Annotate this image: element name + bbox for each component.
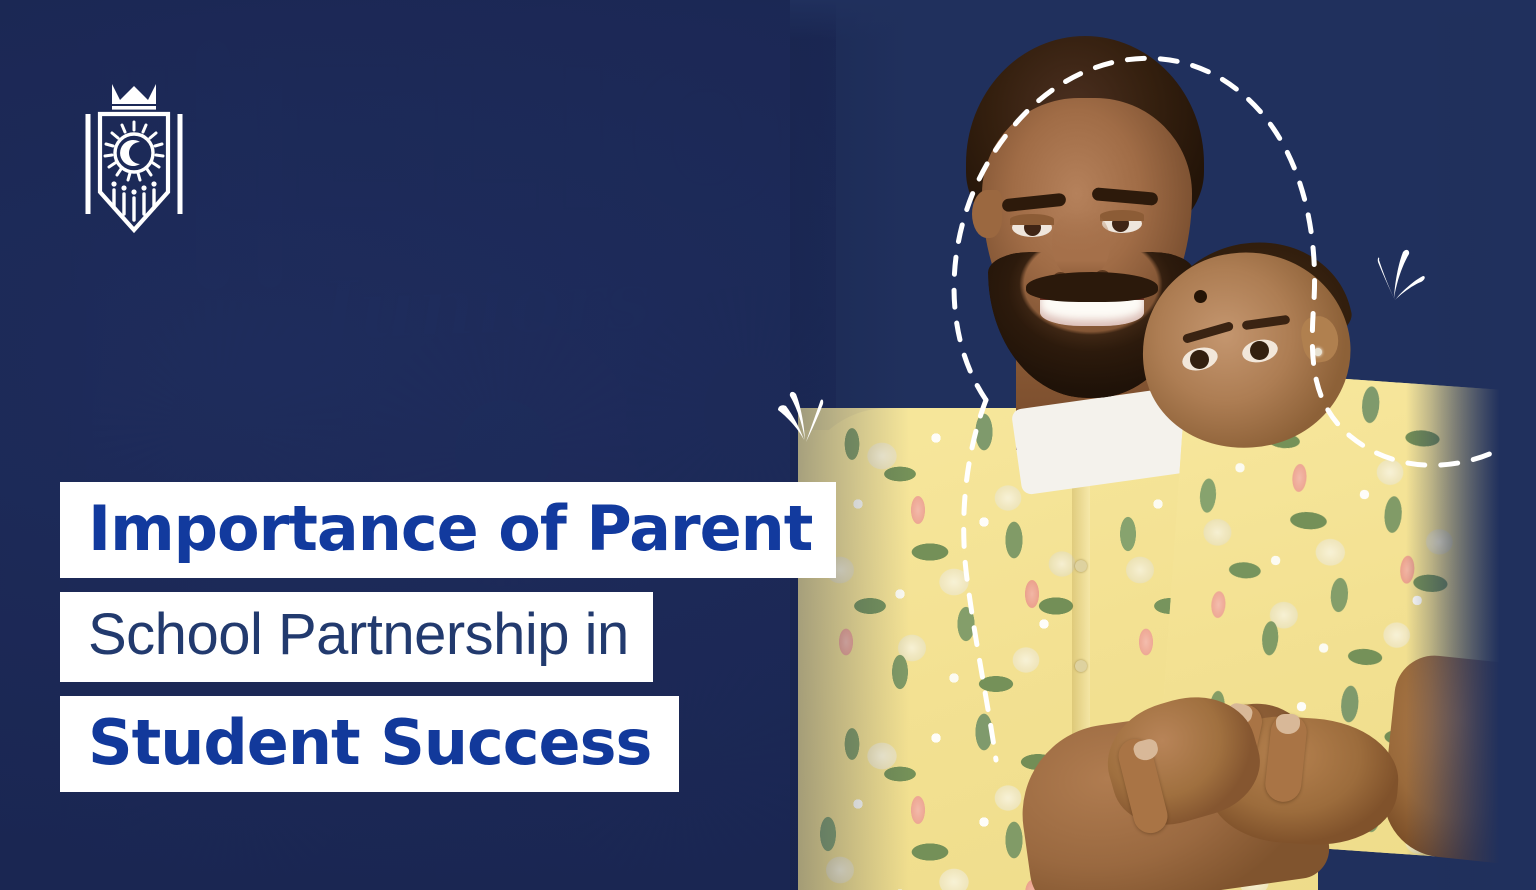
sparkle-burst-right-icon bbox=[1371, 246, 1429, 308]
headline-line-3: Student Success bbox=[60, 696, 679, 792]
crown-icon bbox=[112, 84, 156, 104]
headline-line-2: School Partnership in bbox=[60, 592, 653, 682]
crescent-moon-icon bbox=[120, 140, 140, 166]
banner-canvas: HELIOS Juniors HAPPY FATHERS DAY bbox=[0, 0, 1536, 890]
headline-line-1: Importance of Parent bbox=[60, 482, 836, 578]
headline-block: Importance of Parent School Partnership … bbox=[60, 482, 836, 792]
dashed-silhouette-outline bbox=[790, 0, 1536, 890]
sparkle-burst-left-icon bbox=[770, 388, 828, 450]
helios-school-crest-logo bbox=[78, 74, 190, 260]
